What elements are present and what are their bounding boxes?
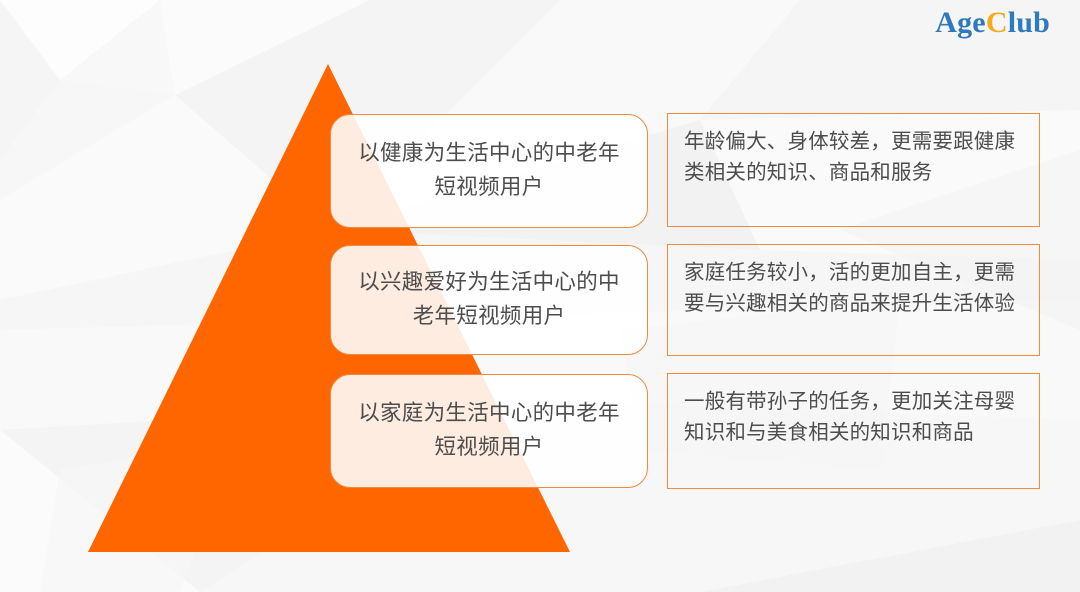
pyramid-tier-description-2: 家庭任务较小，活的更加自主，更需要与兴趣相关的商品来提升生活体验 xyxy=(667,244,1040,356)
tier-description-text: 一般有带孙子的任务，更加关注母婴知识和与美食相关的知识和商品 xyxy=(684,386,1025,448)
pyramid-tier-label-2: 以兴趣爱好为生活中心的中老年短视频用户 xyxy=(330,245,648,355)
logo-text-c: C xyxy=(986,6,1008,39)
tier-label-text: 以家庭为生活中心的中老年短视频用户 xyxy=(357,397,621,465)
logo-text-lub: lub xyxy=(1008,6,1050,39)
slide-canvas: AgeClub 以健康为生活中心的中老年短视频用户 以兴趣爱好为生活中心的中老年… xyxy=(0,0,1080,592)
tier-description-text: 年龄偏大、身体较差，更需要跟健康类相关的知识、商品和服务 xyxy=(684,126,1025,188)
pyramid-tier-label-1: 以健康为生活中心的中老年短视频用户 xyxy=(330,114,648,228)
logo-text-age: Age xyxy=(935,6,986,39)
pyramid-tier-description-3: 一般有带孙子的任务，更加关注母婴知识和与美食相关的知识和商品 xyxy=(667,373,1040,489)
tier-description-text: 家庭任务较小，活的更加自主，更需要与兴趣相关的商品来提升生活体验 xyxy=(684,257,1025,319)
tier-label-text: 以兴趣爱好为生活中心的中老年短视频用户 xyxy=(357,266,621,334)
brand-logo: AgeClub xyxy=(935,8,1050,38)
tier-label-text: 以健康为生活中心的中老年短视频用户 xyxy=(357,137,621,205)
pyramid-tier-label-3: 以家庭为生活中心的中老年短视频用户 xyxy=(330,374,648,488)
pyramid-tier-description-1: 年龄偏大、身体较差，更需要跟健康类相关的知识、商品和服务 xyxy=(667,113,1040,227)
